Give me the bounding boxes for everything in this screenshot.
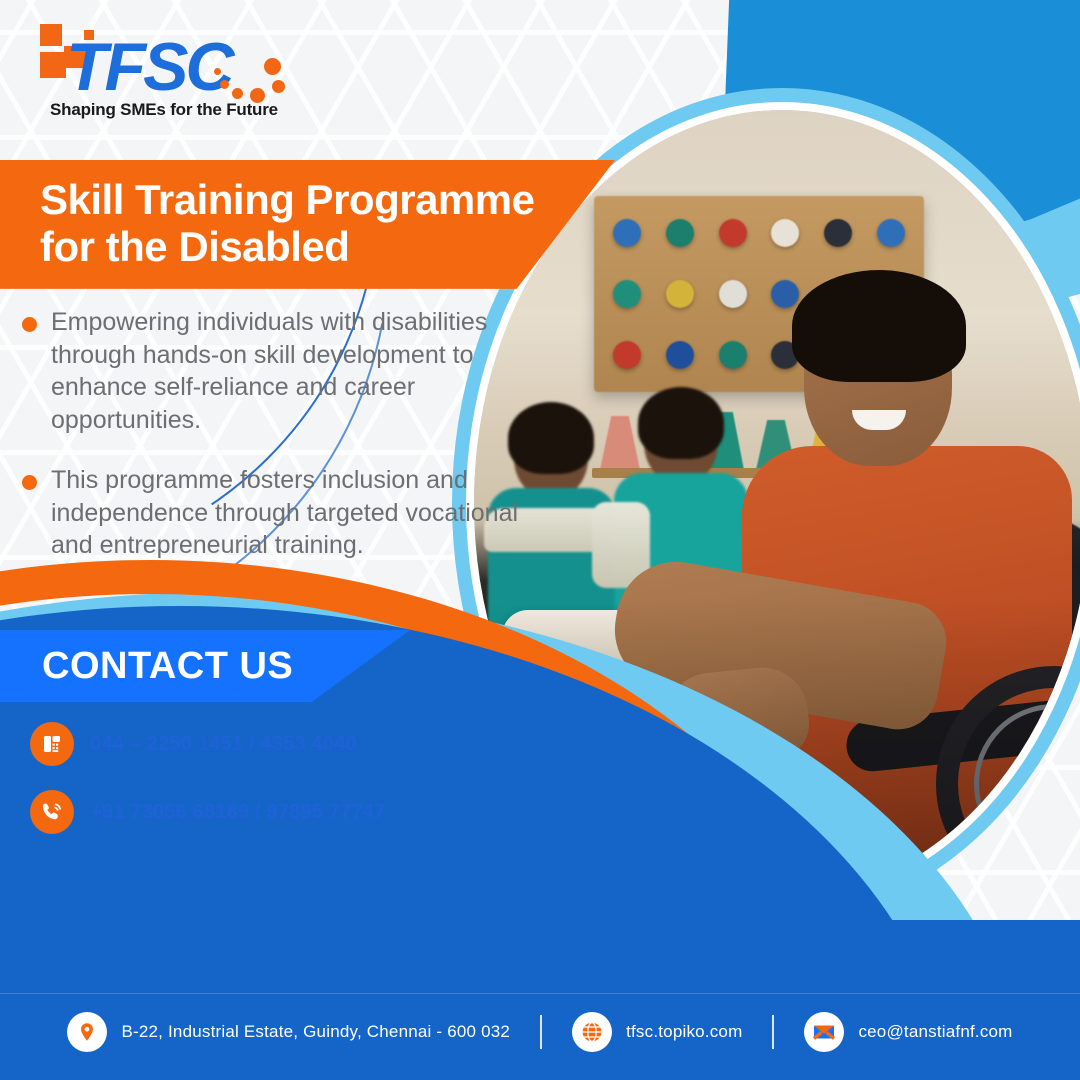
contact-row-landline[interactable]: 044 – 2250 1451 / 4353 4040 <box>30 722 386 766</box>
bullet-dot-icon <box>22 317 37 332</box>
headline-line-1: Skill Training Programme <box>40 176 534 223</box>
brand-logo[interactable]: TFSC Shaping SMEs for the Future <box>28 22 288 120</box>
mobile-number: +91 73056 68189 / 97895 77747 <box>90 801 386 824</box>
mobile-call-icon <box>30 790 74 834</box>
contact-details: 044 – 2250 1451 / 4353 4040 +91 73056 68… <box>30 722 386 858</box>
footer-address[interactable]: B-22, Industrial Estate, Guindy, Chennai… <box>67 1012 510 1052</box>
bullet-text: This programme fosters inclusion and ind… <box>51 464 522 562</box>
bullet-list: Empowering individuals with disabilities… <box>22 306 522 590</box>
landline-number: 044 – 2250 1451 / 4353 4040 <box>90 733 357 756</box>
headline-banner: Skill Training Programmefor the Disabled <box>0 160 615 289</box>
contact-us-heading: CONTACT US <box>0 645 293 688</box>
bullet-text: Empowering individuals with disabilities… <box>51 306 522 436</box>
location-pin-icon <box>67 1012 107 1052</box>
list-item: This programme fosters inclusion and ind… <box>22 464 522 562</box>
website-text: tfsc.topiko.com <box>626 1022 742 1042</box>
contact-row-mobile[interactable]: +91 73056 68189 / 97895 77747 <box>30 790 386 834</box>
footer-divider <box>772 1015 774 1049</box>
logo-wordmark: TFSC <box>66 28 232 106</box>
footer-divider <box>540 1015 542 1049</box>
logo-dots-icon <box>224 58 294 104</box>
footer-website[interactable]: tfsc.topiko.com <box>572 1012 742 1052</box>
address-text: B-22, Industrial Estate, Guindy, Chennai… <box>121 1022 510 1042</box>
tfsc-logo-icon: TFSC <box>28 22 288 104</box>
list-item: Empowering individuals with disabilities… <box>22 306 522 436</box>
poster-canvas: TFSC Shaping SMEs for the Future Skill T… <box>0 0 1080 1080</box>
email-text: ceo@tanstiafnf.com <box>858 1022 1012 1042</box>
headline-line-2: for the Disabled <box>40 223 349 270</box>
page-title: Skill Training Programmefor the Disabled <box>40 176 560 271</box>
footer-bar: B-22, Industrial Estate, Guindy, Chennai… <box>0 984 1080 1080</box>
envelope-icon <box>804 1012 844 1052</box>
landline-phone-icon <box>30 722 74 766</box>
footer-email[interactable]: ceo@tanstiafnf.com <box>804 1012 1012 1052</box>
globe-icon <box>572 1012 612 1052</box>
bullet-dot-icon <box>22 475 37 490</box>
